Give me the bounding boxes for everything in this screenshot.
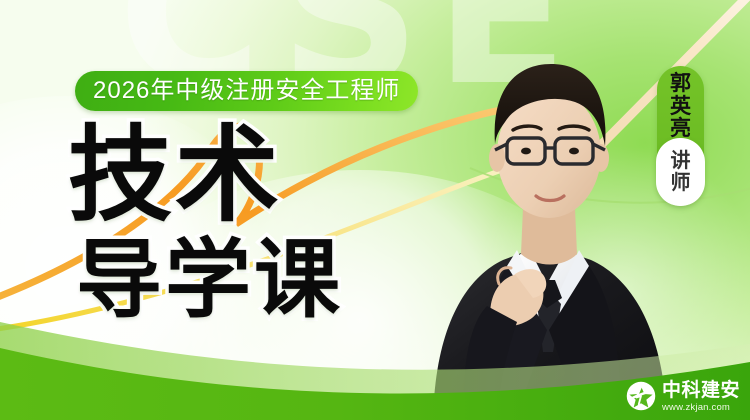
headline-line-1: 技术: [68, 128, 343, 226]
course-title-pill-label: 2026年中级注册安全工程师: [93, 79, 400, 103]
brand-text-block: 中科建安 www.zkjan.com: [662, 381, 740, 413]
course-title-pill: 2026年中级注册安全工程师: [75, 71, 418, 111]
headline-block: 技术 导学课: [68, 128, 343, 321]
brand-logo: 中科建安 www.zkjan.com: [626, 381, 740, 413]
headline-line-2: 导学课: [76, 240, 343, 321]
instructor-name-char-2: 英: [670, 96, 691, 119]
instructor-name-char-1: 郭: [670, 73, 691, 96]
instructor-role-char-1: 讲: [671, 150, 691, 172]
course-cover-poster: CSE: [0, 0, 750, 420]
brand-url: www.zkjan.com: [662, 403, 740, 413]
instructor-badge: 郭 英 亮 讲 师: [657, 66, 704, 206]
zkjan-circle-logo-icon: [626, 381, 656, 411]
instructor-role-char-2: 师: [671, 172, 691, 194]
brand-name: 中科建安: [662, 381, 740, 400]
instructor-role: 讲 师: [656, 138, 705, 206]
instructor-name: 郭 英 亮: [670, 73, 691, 141]
